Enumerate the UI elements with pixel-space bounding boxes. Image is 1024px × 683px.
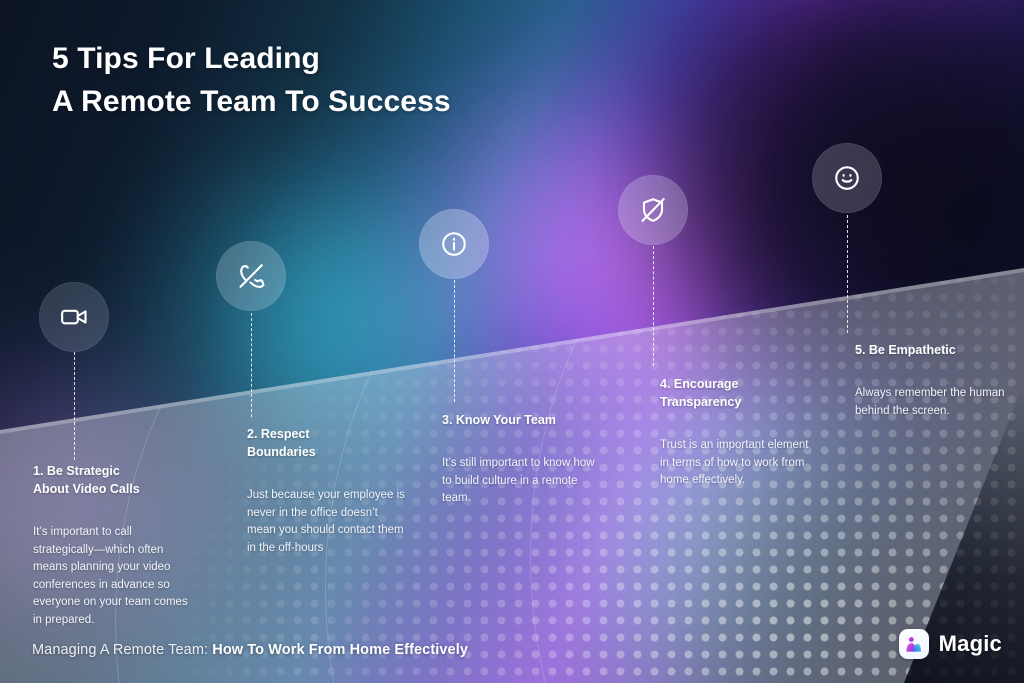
video-camera-icon — [59, 302, 89, 332]
connector-line-3 — [454, 280, 455, 402]
tip-block-4: 4. Encourage Transparency Trust is an im… — [660, 375, 818, 490]
info-icon — [439, 229, 469, 259]
shield-off-icon — [638, 195, 668, 225]
tip-body-2: Just because your employee is never in t… — [247, 487, 405, 557]
footer-caption: Managing A Remote Team: How To Work From… — [32, 642, 468, 658]
smiley-face-icon — [832, 163, 862, 193]
tip-block-1: 1. Be Strategic About Video Calls It’s i… — [33, 462, 191, 629]
tip-heading-5: 5. Be Empathetic — [855, 341, 1013, 359]
brand-mark — [899, 629, 929, 659]
connector-line-4 — [653, 246, 654, 366]
connector-line-2 — [251, 313, 252, 417]
tip-icon-badge-5[interactable] — [812, 143, 882, 213]
tip-heading-3: 3. Know Your Team — [442, 411, 600, 429]
title-line-2: A Remote Team To Success — [52, 81, 451, 124]
tip-block-2: 2. Respect Boundaries Just because your … — [247, 425, 405, 557]
footer-emphasis: How To Work From Home Effectively — [212, 642, 468, 658]
tip-body-1: It’s important to call strategically—whi… — [33, 524, 191, 629]
connector-line-1 — [74, 352, 75, 460]
tip-heading-line: About Video Calls — [33, 482, 140, 496]
magic-logo-icon — [904, 635, 923, 654]
tip-heading-line: Boundaries — [247, 445, 316, 459]
tip-icon-badge-4[interactable] — [618, 175, 688, 245]
tip-heading-line: 1. Be Strategic — [33, 464, 120, 478]
tip-heading-2: 2. Respect Boundaries — [247, 425, 405, 461]
title-line-1: 5 Tips For Leading — [52, 38, 451, 81]
connector-line-5 — [847, 215, 848, 333]
tip-body-3: It’s still important to know how to buil… — [442, 455, 600, 507]
tip-block-3: 3. Know Your Team It’s still important t… — [442, 411, 600, 508]
tip-heading-line: Transparency — [660, 395, 741, 409]
page-title: 5 Tips For Leading A Remote Team To Succ… — [52, 38, 451, 123]
tip-body-5: Always remember the human behind the scr… — [855, 385, 1013, 420]
tip-body-4: Trust is an important element in terms o… — [660, 437, 818, 489]
tip-heading-line: 2. Respect — [247, 427, 310, 441]
tip-heading-line: 3. Know Your Team — [442, 413, 556, 427]
tip-block-5: 5. Be Empathetic Always remember the hum… — [855, 341, 1013, 420]
tip-heading-line: 5. Be Empathetic — [855, 343, 956, 357]
brand-lockup[interactable]: Magic — [899, 629, 1002, 659]
footer-prefix: Managing A Remote Team: — [32, 642, 212, 658]
tip-icon-badge-2[interactable] — [216, 241, 286, 311]
brand-name: Magic — [939, 631, 1002, 657]
tip-heading-1: 1. Be Strategic About Video Calls — [33, 462, 191, 498]
tip-icon-badge-3[interactable] — [419, 209, 489, 279]
tip-heading-4: 4. Encourage Transparency — [660, 375, 818, 411]
tip-icon-badge-1[interactable] — [39, 282, 109, 352]
tip-heading-line: 4. Encourage — [660, 377, 739, 391]
infographic-canvas: 5 Tips For Leading A Remote Team To Succ… — [0, 0, 1024, 683]
phone-off-icon — [236, 261, 266, 291]
